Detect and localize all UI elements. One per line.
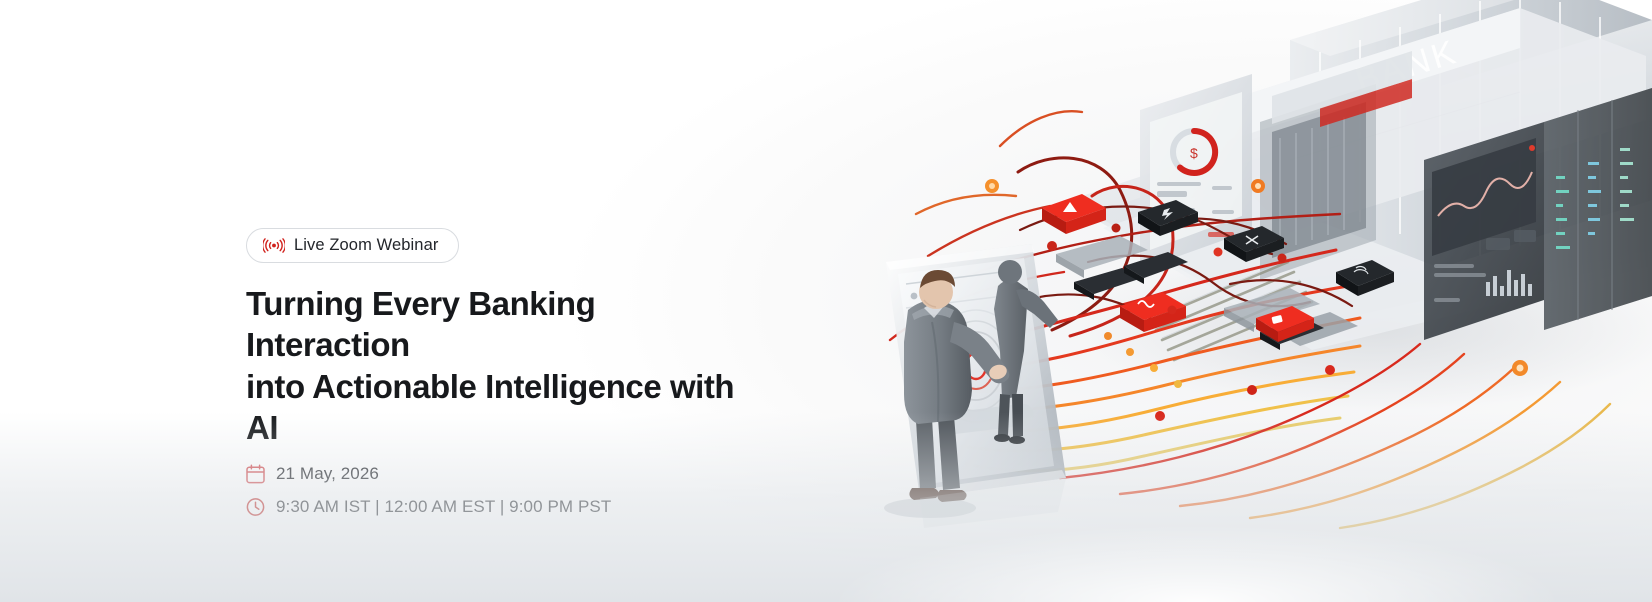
chip-icon-alert	[1042, 194, 1106, 234]
webinar-date-row: 21 May, 2026	[246, 464, 806, 484]
bank-sign-text: BANK	[1351, 33, 1462, 100]
webinar-date-value: 21 May, 2026	[276, 464, 379, 484]
chip-icon-signal	[1120, 292, 1186, 332]
chip-icon-shuffle	[1224, 226, 1284, 262]
touch-ripple	[931, 310, 1021, 422]
chip-icon-lock	[1244, 306, 1314, 342]
webinar-time-row: 9:30 AM IST | 12:00 AM EST | 9:00 PM PST	[246, 497, 806, 517]
dashboard-panel-left: $	[1140, 74, 1252, 270]
page-title: Turning Every Banking Interaction into A…	[246, 283, 746, 448]
circuit-chip-nodes	[985, 179, 1528, 421]
banner-content: Live Zoom Webinar Turning Every Banking …	[246, 228, 806, 517]
data-cable-network	[890, 111, 1610, 528]
chip-icon-fingerprint	[1336, 260, 1394, 296]
businessman-figure-front	[884, 270, 1009, 518]
live-webinar-badge[interactable]: Live Zoom Webinar	[246, 228, 459, 263]
clock-icon	[246, 497, 265, 517]
live-webinar-badge-label: Live Zoom Webinar	[294, 236, 438, 255]
calendar-icon	[246, 464, 265, 484]
svg-text:$: $	[1190, 145, 1198, 161]
bank-entrance	[1260, 51, 1412, 280]
server-racks	[1544, 88, 1652, 330]
bank-building: BANK $	[1140, 0, 1652, 340]
building-cable-bundle	[1150, 260, 1312, 360]
headline-line-1: Turning Every Banking Interaction	[246, 283, 746, 366]
webinar-banner: Live Zoom Webinar Turning Every Banking …	[0, 0, 1652, 602]
businessman-figure-back	[994, 260, 1058, 444]
base-platform	[1070, 70, 1652, 350]
touchscreen-display	[886, 244, 1066, 498]
dashboard-panel-right	[1424, 122, 1544, 340]
webinar-time-value: 9:30 AM IST | 12:00 AM EST | 9:00 PM PST	[276, 497, 611, 517]
headline-line-2: into Actionable Intelligence with AI	[246, 366, 746, 449]
live-broadcast-icon	[263, 238, 285, 253]
chip-icon-bolt	[1138, 200, 1198, 236]
